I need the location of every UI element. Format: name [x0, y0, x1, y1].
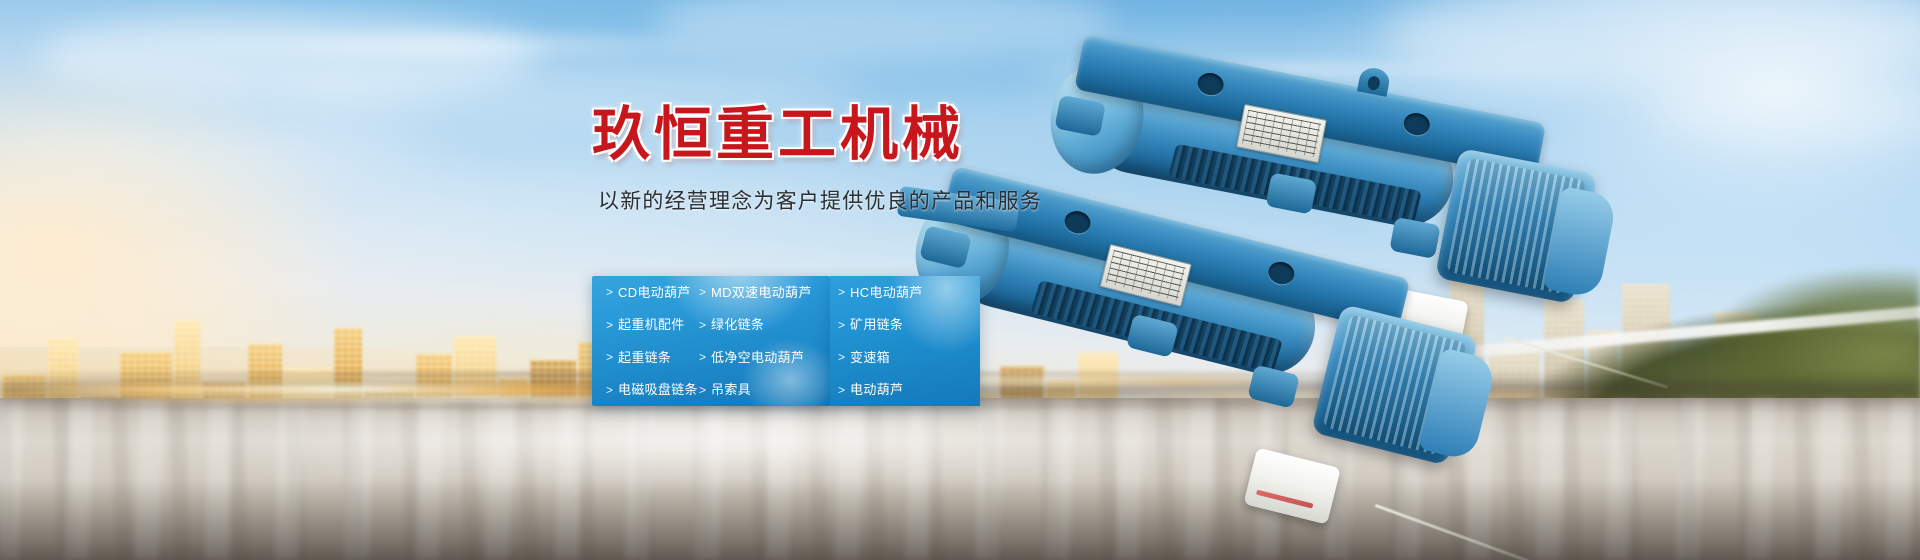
product-label: 绿化链条 — [711, 318, 764, 331]
chevron-right-icon: > — [699, 319, 706, 331]
company-title: 玖恒重工机械 — [592, 104, 1112, 167]
chevron-right-icon: > — [606, 351, 613, 363]
product-link-mining-chain[interactable]: > 矿用链条 — [830, 309, 980, 342]
product-link-hc-hoist[interactable]: > HC电动葫芦 — [830, 276, 980, 309]
chevron-right-icon: > — [838, 384, 845, 396]
product-label: MD双速电动葫芦 — [711, 286, 812, 299]
product-label: 矿用链条 — [850, 318, 903, 331]
headline-block: 玖恒重工机械 以新的经营理念为客户提供优良的产品和服务 — [592, 104, 1112, 215]
junction-box — [1243, 447, 1340, 524]
hero-banner: 玖恒重工机械 以新的经营理念为客户提供优良的产品和服务 > CD电动葫芦 > M… — [0, 0, 1920, 560]
product-link-md-hoist[interactable]: > MD双速电动葫芦 — [693, 276, 830, 309]
product-link-slings[interactable]: > 吊索具 — [693, 374, 830, 407]
product-label: 变速箱 — [850, 351, 890, 364]
product-label: 电磁吸盘链条 — [618, 383, 698, 396]
chevron-right-icon: > — [838, 351, 845, 363]
chevron-right-icon: > — [838, 319, 845, 331]
product-label: 电动葫芦 — [850, 383, 903, 396]
product-link-cd-hoist[interactable]: > CD电动葫芦 — [592, 276, 693, 309]
product-label: 起重机配件 — [618, 318, 685, 331]
chevron-right-icon: > — [606, 384, 613, 396]
company-subtitle: 以新的经营理念为客户提供优良的产品和服务 — [598, 185, 1112, 215]
product-list-column-3: > HC电动葫芦 > 矿用链条 > 变速箱 > 电动葫芦 — [830, 276, 980, 406]
chevron-right-icon: > — [699, 286, 706, 298]
chevron-right-icon: > — [606, 286, 613, 298]
product-label: 起重链条 — [618, 351, 671, 364]
product-link-gearbox[interactable]: > 变速箱 — [830, 341, 980, 374]
chevron-right-icon: > — [838, 286, 845, 298]
product-link-magnetic-chain[interactable]: > 电磁吸盘链条 — [592, 374, 693, 407]
product-list-panel: > CD电动葫芦 > MD双速电动葫芦 > 起重机配件 > 绿化链条 > — [592, 276, 830, 406]
product-link-lifting-chain[interactable]: > 起重链条 — [592, 341, 693, 374]
product-label: 低净空电动葫芦 — [711, 351, 804, 364]
chevron-right-icon: > — [699, 351, 706, 363]
product-label: HC电动葫芦 — [850, 286, 923, 299]
product-label: CD电动葫芦 — [618, 286, 691, 299]
product-link-crane-parts[interactable]: > 起重机配件 — [592, 309, 693, 342]
chevron-right-icon: > — [606, 319, 613, 331]
chevron-right-icon: > — [699, 384, 706, 396]
product-label: 吊索具 — [711, 383, 751, 396]
product-link-green-chain[interactable]: > 绿化链条 — [693, 309, 830, 342]
product-link-low-headroom-hoist[interactable]: > 低净空电动葫芦 — [693, 341, 830, 374]
product-link-electric-hoist[interactable]: > 电动葫芦 — [830, 374, 980, 407]
